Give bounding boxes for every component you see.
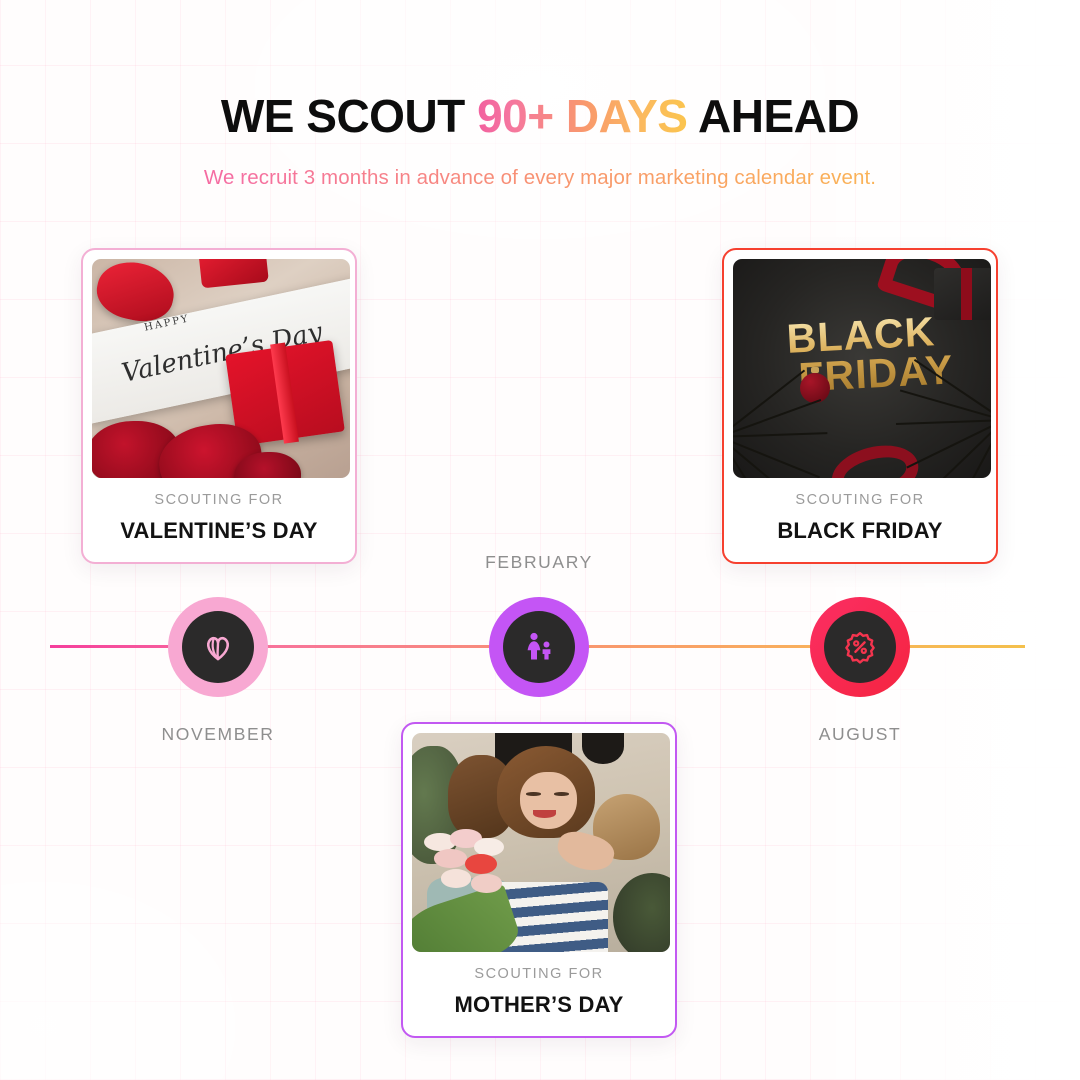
valentines-illustration: HAPPY Valentine’s Day xyxy=(92,259,350,478)
marker-core xyxy=(503,611,575,683)
card-image-mothers xyxy=(412,733,670,952)
background-shadow-shape xyxy=(582,733,623,764)
discount-badge-icon xyxy=(841,628,879,666)
page-title-part2: AHEAD xyxy=(687,90,859,142)
hearts-icon xyxy=(199,628,237,666)
card-eyebrow: SCOUTING FOR xyxy=(98,492,340,508)
page-title: WE SCOUT 90+ DAYS AHEAD xyxy=(0,92,1080,140)
milestone-card-mothers[interactable]: SCOUTING FOR MOTHER’S DAY xyxy=(401,722,677,1038)
month-label-february: FEBRUARY xyxy=(409,552,669,573)
card-image-valentines: HAPPY Valentine’s Day xyxy=(92,259,350,478)
card-title: BLACK FRIDAY xyxy=(739,518,981,544)
milestone-card-blackfriday[interactable]: BLACKFRIDAY SCOUTING FOR BLACK FRIDAY xyxy=(722,248,998,564)
card-caption: SCOUTING FOR MOTHER’S DAY xyxy=(412,952,666,1036)
page-title-part1: WE SCOUT xyxy=(221,90,477,142)
card-title: MOTHER’S DAY xyxy=(418,992,660,1018)
timeline-marker-mothers[interactable] xyxy=(489,597,589,697)
eye-shape xyxy=(554,792,569,796)
pine-branch-shape xyxy=(889,384,991,478)
card-title: VALENTINE’S DAY xyxy=(98,518,340,544)
marker-core xyxy=(182,611,254,683)
page-subtitle: We recruit 3 months in advance of every … xyxy=(0,166,1080,190)
plant-shape xyxy=(613,873,670,952)
month-label-november: NOVEMBER xyxy=(88,724,348,745)
milestone-card-valentines[interactable]: HAPPY Valentine’s Day SCOUTING FOR VALEN… xyxy=(81,248,357,564)
timeline-marker-blackfriday[interactable] xyxy=(810,597,910,697)
tulip-bouquet-shape xyxy=(417,829,525,912)
christmas-bauble-shape xyxy=(800,373,830,403)
marker-core xyxy=(824,611,896,683)
mothers-illustration xyxy=(412,733,670,952)
page-title-highlight: 90+ DAYS xyxy=(477,90,687,142)
timeline-marker-valentines[interactable] xyxy=(168,597,268,697)
card-eyebrow: SCOUTING FOR xyxy=(418,966,660,982)
blackfriday-illustration: BLACKFRIDAY xyxy=(733,259,991,478)
card-caption: SCOUTING FOR BLACK FRIDAY xyxy=(733,478,987,562)
card-caption: SCOUTING FOR VALENTINE’S DAY xyxy=(92,478,346,562)
eye-shape xyxy=(526,792,541,796)
gift-corner-shape xyxy=(198,259,269,289)
month-label-august: AUGUST xyxy=(730,724,990,745)
card-image-blackfriday: BLACKFRIDAY xyxy=(733,259,991,478)
card-eyebrow: SCOUTING FOR xyxy=(739,492,981,508)
header: WE SCOUT 90+ DAYS AHEAD We recruit 3 mon… xyxy=(0,0,1080,190)
mother-and-child-icon xyxy=(520,628,558,666)
pine-branch-shape xyxy=(733,400,833,478)
poster-canvas: WE SCOUT 90+ DAYS AHEAD We recruit 3 mon… xyxy=(0,0,1080,1080)
